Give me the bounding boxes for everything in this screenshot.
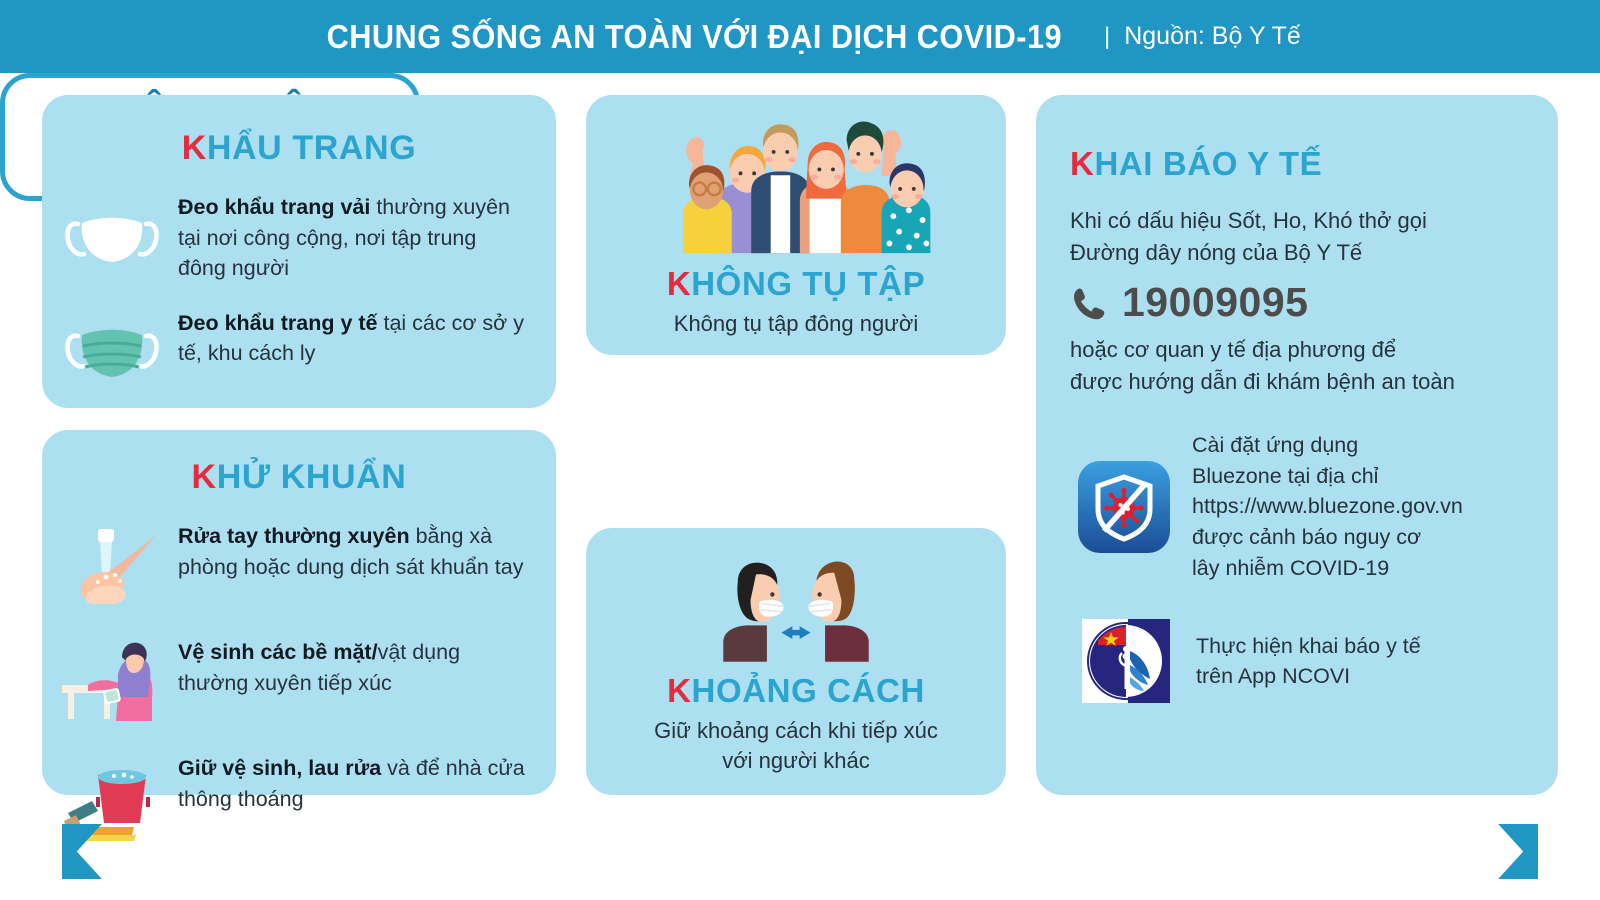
list-item-text: Vệ sinh các bề mặt/vật dụng thường xuyên… [178, 635, 532, 698]
card-no-gathering-subtitle: Không tụ tập đông người [586, 309, 1006, 339]
list-item: Vệ sinh các bề mặt/vật dụng thường xuyên… [60, 635, 532, 727]
header-source: Nguồn: Bộ Y Tế [1124, 22, 1301, 51]
surface-clean-icon [60, 635, 164, 727]
declaration-intro-line1: Khi có dấu hiệu Sốt, Ho, Khó thở gọi [1070, 205, 1526, 237]
list-item-bold: Giữ vệ sinh, lau rửa [178, 756, 381, 780]
bluezone-line-5: lây nhiễm COVID-19 [1192, 556, 1389, 580]
list-item: Đeo khẩu trang y tế tại các cơ sở y tế, … [60, 306, 530, 398]
card-health-declaration-body: KHAI BÁO Y TẾ Khi có dấu hiệu Sốt, Ho, K… [1036, 95, 1558, 709]
card-mask-title: KHẨU TRANG [42, 95, 556, 168]
medical-mask-icon [60, 306, 164, 398]
list-item-text: Đeo khẩu trang vải thường xuyên tại nơi … [178, 190, 530, 284]
handwash-icon [60, 519, 164, 611]
card-mask: KHẨU TRANG Đeo khẩu trang vải thường xuy… [42, 95, 556, 408]
title-rest: HÔNG TỤ TẬP [691, 265, 925, 302]
card-mask-title-text: KHẨU TRANG [182, 129, 417, 167]
page-title: CHUNG SỐNG AN TOÀN VỚI ĐẠI DỊCH COVID-19 [327, 18, 1062, 56]
crowd-group-icon [586, 95, 1006, 263]
card-distance-subtitle-line1: Giữ khoảng cách khi tiếp xúc [586, 716, 1006, 746]
list-item: Đeo khẩu trang vải thường xuyên tại nơi … [60, 190, 530, 284]
footer-message: Hãy giữ an toàn cho Bạn và Chúng ta trướ… [495, 840, 1105, 864]
list-item-text: Rửa tay thường xuyên bằng xà phòng hoặc … [178, 519, 532, 582]
list-item-bold: Vệ sinh các bề mặt/ [178, 640, 378, 664]
list-item-text: Đeo khẩu trang y tế tại các cơ sở y tế, … [178, 306, 530, 369]
list-item: Rửa tay thường xuyên bằng xà phòng hoặc … [60, 519, 532, 611]
app-row-bluezone[interactable]: Cài đặt ứng dụng Bluezone tại địa chỉ ht… [1070, 430, 1526, 583]
title-k-letter: K [667, 265, 691, 302]
ncovi-app-text: Thực hiện khai báo y tế trên App NCOVI [1196, 631, 1421, 692]
hotline-number: 19009095 [1122, 279, 1308, 326]
card-no-gathering: KHÔNG TỤ TẬP Không tụ tập đông người [586, 95, 1006, 355]
header-banner: CHUNG SỐNG AN TOÀN VỚI ĐẠI DỊCH COVID-19… [0, 0, 1600, 73]
hotline-row[interactable]: 19009095 [1070, 279, 1526, 326]
ncovi-line-1: Thực hiện khai báo y tế [1196, 634, 1421, 658]
infographic-page: CHUNG SỐNG AN TOÀN VỚI ĐẠI DỊCH COVID-19… [0, 0, 1600, 900]
list-item-bold: Rửa tay thường xuyên [178, 524, 410, 548]
bluezone-app-text: Cài đặt ứng dụng Bluezone tại địa chỉ ht… [1192, 430, 1463, 583]
card-disinfect-title-text: KHỬ KHUẨN [192, 458, 407, 496]
bluezone-line-2: Bluezone tại địa chỉ [1192, 464, 1378, 488]
app-row-ncovi[interactable]: Thực hiện khai báo y tế trên App NCOVI [1070, 613, 1526, 709]
title-k-letter: K [182, 129, 207, 167]
declaration-intro-line2: Đường dây nóng của Bộ Y Tế [1070, 237, 1526, 269]
title-rest: HỬ KHUẨN [217, 458, 407, 496]
card-distance-subtitle-line2: với người khác [586, 746, 1006, 776]
ncovi-ministry-logo-icon [1078, 613, 1174, 709]
list-item-text: Giữ vệ sinh, lau rửa và để nhà cửa thông… [178, 751, 532, 814]
card-health-declaration: KHAI BÁO Y TẾ Khi có dấu hiệu Sốt, Ho, K… [1036, 95, 1558, 795]
title-k-letter: K [192, 458, 217, 496]
card-distance-title: KHOẢNG CÁCH [586, 672, 1006, 710]
declaration-outro-line1: hoặc cơ quan y tế địa phương để [1070, 334, 1526, 366]
title-rest: HAI BÁO Y TẾ [1094, 145, 1322, 182]
card-disinfect-items: Rửa tay thường xuyên bằng xà phòng hoặc … [42, 497, 556, 843]
card-no-gathering-title: KHÔNG TỤ TẬP [586, 265, 1006, 303]
card-health-declaration-title: KHAI BÁO Y TẾ [1070, 145, 1526, 183]
title-rest: HOẢNG CÁCH [692, 672, 925, 709]
cloth-mask-icon [60, 190, 164, 282]
phone-handset-icon [1070, 284, 1108, 322]
bluezone-app-icon [1078, 461, 1170, 553]
card-mask-items: Đeo khẩu trang vải thường xuyên tại nơi … [42, 168, 556, 398]
content-board: KHẨU TRANG Đeo khẩu trang vải thường xuy… [0, 73, 1600, 818]
footer-text-wrap: Hãy giữ an toàn cho Bạn và Chúng ta trướ… [62, 824, 1538, 879]
title-rest: HẨU TRANG [207, 129, 416, 167]
header-separator: | [1104, 23, 1110, 51]
declaration-outro-line2: được hướng dẫn đi khám bệnh an toàn [1070, 366, 1526, 398]
card-disinfect: KHỬ KHUẨN [42, 430, 556, 795]
card-distance: KHOẢNG CÁCH Giữ khoảng cách khi tiếp xúc… [586, 528, 1006, 795]
title-k-letter: K [667, 672, 691, 709]
bluezone-line-3: https://www.bluezone.gov.vn [1192, 494, 1463, 518]
ncovi-line-2: trên App NCOVI [1196, 664, 1350, 688]
bluezone-line-1: Cài đặt ứng dụng [1192, 433, 1358, 457]
bluezone-line-4: được cảnh báo nguy cơ [1192, 525, 1421, 549]
title-k-letter: K [1070, 145, 1094, 182]
card-disinfect-title: KHỬ KHUẨN [42, 430, 556, 497]
two-people-distance-icon [586, 528, 1006, 664]
list-item-bold: Đeo khẩu trang y tế [178, 311, 378, 335]
list-item-bold: Đeo khẩu trang vải [178, 195, 370, 219]
